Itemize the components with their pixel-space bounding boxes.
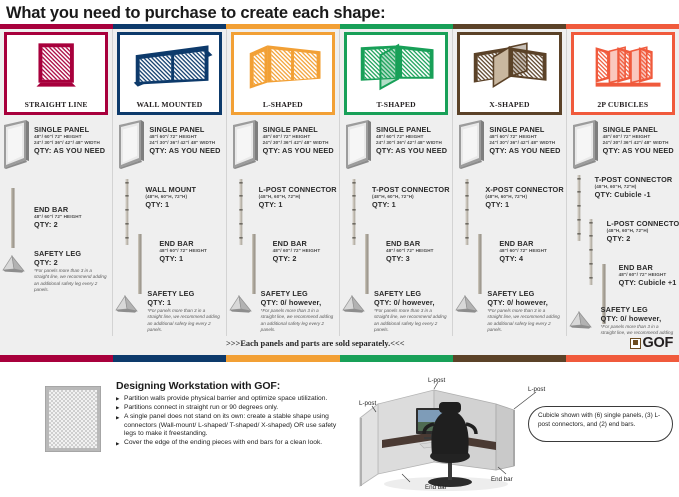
part-text: L-POST CONNECTOR(48"H, 60"H, 72"H)QTY: 1 (259, 185, 337, 210)
x-shaped-illustration (460, 37, 558, 91)
part-name: X-POST CONNECTOR (485, 185, 563, 194)
design-bullet-2: A single panel does not stand on its own… (116, 413, 344, 439)
single-panel-icon (344, 119, 374, 174)
part-text: END BAR48"/ 60"/ 72" HEIGHTQTY: 1 (159, 239, 207, 264)
bottom-color-stripe (0, 355, 679, 362)
part-quantity: QTY: 1 (259, 200, 337, 210)
safety-leg-note: *For panels more than 3 in a straight li… (487, 308, 561, 334)
safety-leg-icon (2, 255, 26, 278)
part-name: SINGLE PANEL (376, 125, 447, 134)
part-name: END BAR (273, 239, 321, 248)
end-bar-icon (8, 187, 18, 254)
part-quantity: QTY: 2 (607, 234, 679, 244)
cubicle-callout: Cubicle shown with (6) single panels, (3… (528, 406, 673, 442)
part-name: END BAR (499, 239, 547, 248)
cubicle-illustration: L-postL-postL-postEnd barEnd bar (338, 366, 548, 494)
part-row-end-bar: END BAR48"/ 60"/ 72" HEIGHTQTY: 2 (227, 233, 339, 289)
shape-card-t-shaped: T-SHAPED (344, 32, 448, 115)
part-name: SINGLE PANEL (263, 125, 334, 134)
part-text: SINGLE PANEL48"/ 60"/ 72" HEIGHT24"/ 30"… (34, 125, 105, 156)
part-quantity: QTY: AS YOU NEED (263, 146, 334, 156)
part-row-x-post-connector: X-POST CONNECTOR(48"H, 60"H, 72"H)QTY: 1 (453, 179, 565, 235)
safety-leg-icon (229, 295, 253, 318)
part-text: T-POST CONNECTOR(48"H, 60"H, 72"H)QTY: 1 (372, 185, 450, 210)
part-row-single-panel: SINGLE PANEL48"/ 60"/ 72" HEIGHT24"/ 30"… (453, 119, 565, 175)
part-row-safety-leg: SAFETY LEGQTY: 2*For panels more than 3 … (0, 249, 112, 305)
part-row-end-bar: END BAR48"/ 60"/ 72" HEIGHTQTY: 2 (0, 187, 112, 243)
shape-column-x-shaped[interactable]: X-SHAPEDSINGLE PANEL48"/ 60"/ 72" HEIGHT… (453, 29, 566, 360)
sold-separately-text: >>>Each panels and parts are sold separa… (226, 339, 405, 348)
part-name: SINGLE PANEL (603, 125, 674, 134)
safety-leg-icon (342, 295, 366, 318)
shape-label: 2P CUBICLES (574, 100, 672, 109)
part-text: SAFETY LEGQTY: 1*For panels more than 3 … (147, 289, 221, 334)
single-panel-icon (117, 119, 147, 174)
single-panel-icon (457, 119, 487, 174)
part-quantity: QTY: 1 (145, 200, 196, 210)
design-bullet-text: A single panel does not stand on its own… (123, 413, 344, 439)
design-bullet-text: Cover the edge of the ending pieces with… (123, 439, 344, 448)
part-quantity: QTY: 0/ however, (487, 298, 561, 308)
designing-bullets: Partition walls provide physical barrier… (116, 395, 344, 448)
part-text: SINGLE PANEL48"/ 60"/ 72" HEIGHT24"/ 30"… (149, 125, 220, 156)
design-bullet-3: Cover the edge of the ending pieces with… (116, 439, 344, 448)
stripe-segment-2 (226, 355, 339, 362)
part-name: SINGLE PANEL (149, 125, 220, 134)
part-quantity: QTY: 1 (159, 254, 207, 264)
part-name: END BAR (159, 239, 207, 248)
page-title: What you need to purchase to create each… (0, 0, 679, 24)
parts-list: SINGLE PANEL48"/ 60"/ 72" HEIGHT24"/ 30"… (113, 117, 225, 360)
shape-card-2p-cubicles: 2P CUBICLES (571, 32, 675, 115)
design-bullet-1: Partitions connect in straight run or 90… (116, 404, 344, 413)
part-row-end-bar: END BAR48"/ 60"/ 72" HEIGHTQTY: 4 (453, 233, 565, 289)
part-name: L-POST CONNECTOR (607, 219, 679, 228)
single-panel-icon (571, 119, 601, 174)
part-row-l-post-connector: L-POST CONNECTOR(48"H, 60"H, 72"H)QTY: 1 (227, 179, 339, 235)
panel-fabric-swatch (45, 386, 101, 452)
part-row-t-post-connector: T-POST CONNECTOR(48"H, 60"H, 72"H)QTY: 1 (340, 179, 452, 235)
designing-text-block: Designing Workstation with GOF: Partitio… (116, 380, 344, 449)
part-name: END BAR (34, 205, 82, 214)
part-name: WALL MOUNT (145, 185, 196, 194)
part-row-single-panel: SINGLE PANEL48"/ 60"/ 72" HEIGHT24"/ 30"… (227, 119, 339, 175)
part-name: SINGLE PANEL (34, 125, 105, 134)
stripe-segment-4 (453, 355, 566, 362)
t-shaped-illustration (347, 37, 445, 91)
part-text: END BAR48"/ 60"/ 72" HEIGHTQTY: 2 (273, 239, 321, 264)
part-text: SINGLE PANEL48"/ 60"/ 72" HEIGHT24"/ 30"… (263, 125, 334, 156)
part-quantity: QTY: 1 (485, 200, 563, 210)
design-bullet-0: Partition walls provide physical barrier… (116, 395, 344, 404)
shape-label: X-SHAPED (460, 100, 558, 109)
part-quantity: QTY: 0/ however, (374, 298, 448, 308)
shape-column-2p-cubicles[interactable]: 2P CUBICLESSINGLE PANEL48"/ 60"/ 72" HEI… (567, 29, 679, 360)
diagram-label-0: L-post (359, 400, 376, 407)
part-text: SINGLE PANEL48"/ 60"/ 72" HEIGHT24"/ 30"… (376, 125, 447, 156)
part-text: END BAR48"/ 60"/ 72" HEIGHTQTY: 4 (499, 239, 547, 264)
shape-column-t-shaped[interactable]: T-SHAPEDSINGLE PANEL48"/ 60"/ 72" HEIGHT… (340, 29, 453, 360)
design-bullet-text: Partition walls provide physical barrier… (123, 395, 344, 404)
part-quantity: QTY: AS YOU NEED (603, 146, 674, 156)
sold-separately-banner: >>>Each panels and parts are sold separa… (0, 336, 679, 355)
safety-leg-note: *For panels more than 3 in a straight li… (147, 308, 221, 334)
part-quantity: QTY: Cubicle +1 (619, 278, 677, 288)
part-name: SAFETY LEG (487, 289, 561, 298)
part-text: END BAR48"/ 60"/ 72" HEIGHTQTY: 2 (34, 205, 82, 230)
shape-label: L-SHAPED (234, 100, 332, 109)
part-quantity: QTY: 3 (386, 254, 434, 264)
part-row-end-bar: END BAR48"/ 60"/ 72" HEIGHTQTY: 3 (340, 233, 452, 289)
part-text: L-POST CONNECTOR(48"H, 60"H, 72"H)QTY: 2 (607, 219, 679, 244)
safety-leg-note: *For panels more than 3 in a straight li… (374, 308, 448, 334)
safety-leg-note: *For panels more than 3 in a straight li… (261, 308, 335, 334)
part-name: SAFETY LEG (601, 305, 675, 314)
part-row-single-panel: SINGLE PANEL48"/ 60"/ 72" HEIGHT24"/ 30"… (340, 119, 452, 175)
shape-column-l-shaped[interactable]: L-SHAPEDSINGLE PANEL48"/ 60"/ 72" HEIGHT… (227, 29, 340, 360)
part-name: END BAR (386, 239, 434, 248)
gof-logo-word: GOF (642, 336, 673, 350)
cubicle-callout-text: Cubicle shown with (6) single panels, (3… (538, 411, 666, 429)
part-quantity: QTY: Cubicle -1 (595, 190, 673, 200)
part-row-end-bar: END BAR48"/ 60"/ 72" HEIGHTQTY: 1 (113, 233, 225, 289)
part-text: SINGLE PANEL48"/ 60"/ 72" HEIGHT24"/ 30"… (489, 125, 560, 156)
part-name: SINGLE PANEL (489, 125, 560, 134)
part-quantity: QTY: 0/ however, (261, 298, 335, 308)
shape-card-x-shaped: X-SHAPED (457, 32, 561, 115)
part-name: L-POST CONNECTOR (259, 185, 337, 194)
diagram-label-4: End bar (491, 476, 513, 483)
part-quantity: QTY: 2 (34, 258, 108, 268)
part-row-single-panel: SINGLE PANEL48"/ 60"/ 72" HEIGHT24"/ 30"… (567, 119, 679, 175)
part-text: END BAR48"/ 60"/ 72" HEIGHTQTY: Cubicle … (619, 263, 677, 288)
stripe-segment-3 (340, 355, 453, 362)
part-name: SAFETY LEG (374, 289, 448, 298)
shape-column-straight-line[interactable]: STRAIGHT LINESINGLE PANEL48"/ 60"/ 72" H… (0, 29, 113, 360)
part-text: SAFETY LEGQTY: 0/ however,*For panels mo… (487, 289, 561, 334)
part-text: SAFETY LEGQTY: 2*For panels more than 3 … (34, 249, 108, 294)
straight-line-illustration (7, 37, 105, 91)
parts-list: SINGLE PANEL48"/ 60"/ 72" HEIGHT24"/ 30"… (227, 117, 339, 360)
stripe-segment-1 (113, 355, 226, 362)
2p-cubicles-illustration (574, 37, 672, 91)
part-name: T-POST CONNECTOR (372, 185, 450, 194)
part-row-single-panel: SINGLE PANEL48"/ 60"/ 72" HEIGHT24"/ 30"… (0, 119, 112, 175)
part-row-wall-mount: WALL MOUNT(48"H, 60"H, 72"H)QTY: 1 (113, 179, 225, 235)
shape-card-wall-mounted: WALL MOUNTED (117, 32, 221, 115)
safety-leg-note: *For panels more than 3 in a straight li… (34, 268, 108, 294)
part-text: SAFETY LEGQTY: 0/ however,*For panels mo… (261, 289, 335, 334)
shape-label: STRAIGHT LINE (7, 100, 105, 109)
safety-leg-icon (115, 295, 139, 318)
part-quantity: QTY: 2 (273, 254, 321, 264)
part-text: T-POST CONNECTOR(48"H, 60"H, 72"H)QTY: C… (595, 175, 673, 200)
gof-logo: GOF (630, 336, 673, 350)
stripe-segment-0 (0, 355, 113, 362)
part-row-single-panel: SINGLE PANEL48"/ 60"/ 72" HEIGHT24"/ 30"… (113, 119, 225, 175)
part-name: SAFETY LEG (147, 289, 221, 298)
shape-columns: STRAIGHT LINESINGLE PANEL48"/ 60"/ 72" H… (0, 29, 679, 360)
diagram-label-3: End bar (425, 484, 447, 491)
diagram-label-1: L-post (428, 377, 445, 384)
shape-label: T-SHAPED (347, 100, 445, 109)
safety-leg-icon (569, 311, 593, 334)
part-quantity: QTY: 2 (34, 220, 82, 230)
parts-list: SINGLE PANEL48"/ 60"/ 72" HEIGHT24"/ 30"… (340, 117, 452, 360)
shape-column-wall-mounted[interactable]: WALL MOUNTEDSINGLE PANEL48"/ 60"/ 72" HE… (113, 29, 226, 360)
wall-mounted-illustration (120, 37, 218, 91)
part-name: SAFETY LEG (34, 249, 108, 258)
safety-leg-icon (455, 295, 479, 318)
gof-logo-icon (630, 338, 641, 349)
part-quantity: QTY: 1 (372, 200, 450, 210)
part-quantity: QTY: AS YOU NEED (489, 146, 560, 156)
part-quantity: QTY: 1 (147, 298, 221, 308)
part-name: T-POST CONNECTOR (595, 175, 673, 184)
shape-label: WALL MOUNTED (120, 100, 218, 109)
l-shaped-illustration (234, 37, 332, 91)
parts-list: SINGLE PANEL48"/ 60"/ 72" HEIGHT24"/ 30"… (0, 117, 112, 360)
part-text: X-POST CONNECTOR(48"H, 60"H, 72"H)QTY: 1 (485, 185, 563, 210)
part-quantity: QTY: AS YOU NEED (376, 146, 447, 156)
diagram-label-2: L-post (528, 386, 545, 393)
part-quantity: QTY: 4 (499, 254, 547, 264)
designing-section: Designing Workstation with GOF: Partitio… (0, 362, 679, 497)
part-text: WALL MOUNT(48"H, 60"H, 72"H)QTY: 1 (145, 185, 196, 210)
single-panel-icon (2, 119, 32, 174)
shape-card-straight-line: STRAIGHT LINE (4, 32, 108, 115)
part-text: SAFETY LEGQTY: 0/ however,*For panels mo… (374, 289, 448, 334)
parts-list: SINGLE PANEL48"/ 60"/ 72" HEIGHT24"/ 30"… (453, 117, 565, 360)
design-bullet-text: Partitions connect in straight run or 90… (123, 404, 344, 413)
designing-heading: Designing Workstation with GOF: (116, 380, 344, 392)
part-text: SINGLE PANEL48"/ 60"/ 72" HEIGHT24"/ 30"… (603, 125, 674, 156)
stripe-segment-5 (566, 355, 679, 362)
part-quantity: QTY: 0/ however, (601, 314, 675, 324)
single-panel-icon (231, 119, 261, 174)
parts-list: SINGLE PANEL48"/ 60"/ 72" HEIGHT24"/ 30"… (567, 117, 679, 360)
part-text: END BAR48"/ 60"/ 72" HEIGHTQTY: 3 (386, 239, 434, 264)
shape-card-l-shaped: L-SHAPED (231, 32, 335, 115)
part-name: END BAR (619, 263, 677, 272)
part-quantity: QTY: AS YOU NEED (34, 146, 105, 156)
part-quantity: QTY: AS YOU NEED (149, 146, 220, 156)
part-name: SAFETY LEG (261, 289, 335, 298)
